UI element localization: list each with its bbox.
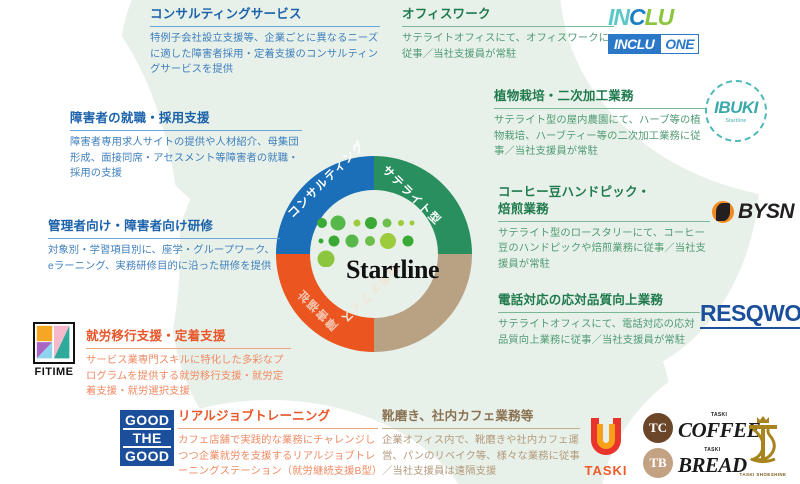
block-title: 障害者の就職・採用支援 xyxy=(70,110,302,131)
block-body: サテライト型の屋内農園にて、ハーブ等の植物栽培、ハーブティー等の二次加工業務に従… xyxy=(494,113,706,160)
gtg-line-1: GOOD xyxy=(123,412,171,430)
block-office-work: オフィスワーク サテライトオフィスにて、オフィスワークに従事／当社支援員が常駐 xyxy=(402,6,614,62)
block-real-job-training: リアルジョブトレーニング カフェ店舗で実践的な業務にチャレンジしつつ企業就労を支… xyxy=(178,408,378,480)
block-body: サテライトオフィスにて、電話対応の応対品質向上業務に従事／当社支援員が常駐 xyxy=(498,317,700,348)
block-body: 企業オフィス内で、靴磨きや社内カフェ運営、パンのリベイク等、様々な業務に従事／当… xyxy=(382,433,580,480)
block-consulting-service: コンサルティングサービス 特例子会社設立支援等、企業ごとに異なるニーズに適した障… xyxy=(150,6,380,78)
fitime-mark-icon xyxy=(33,322,75,364)
inclu-wordmark-bottom: INCLU xyxy=(608,34,660,54)
infographic-canvas: コンサルティングサービス 特例子会社設立支援等、企業ごとに異なるニーズに適した障… xyxy=(0,0,800,484)
block-title: リアルジョブトレーニング xyxy=(178,408,378,429)
inclu-logo: INCLU INCLU ONE xyxy=(608,4,699,54)
block-plant-cultivation: 植物栽培・二次加工業務 サテライト型の屋内農園にて、ハーブ等の植物栽培、ハーブテ… xyxy=(494,88,706,160)
ibuki-mark-icon: IBUKI Startline xyxy=(705,80,767,142)
block-body: 対象別・学習項目別に、座学・グループワーク、eラーニング、実務研修目的に沿った研… xyxy=(48,243,280,274)
tb-badge-icon: TB xyxy=(643,448,673,478)
block-title: 就労移行支援・定着支援 xyxy=(86,328,291,349)
tsb-shoeshine-logo: TASKI SHOESHINE xyxy=(735,414,791,477)
block-body: 障害者専用求人サイトの提供や人材紹介、母集団形成、面接同席・アセスメント等障害者… xyxy=(70,135,302,182)
block-employment-support: 障害者の就職・採用支援 障害者専用求人サイトの提供や人材紹介、母集団形成、面接同… xyxy=(70,110,302,182)
tc-badge-icon: TC xyxy=(643,413,673,443)
bysn-wordmark: BYSN xyxy=(738,200,794,224)
tsb-wordmark: TASKI SHOESHINE xyxy=(735,472,791,477)
tb-bread-logo: TB TASKI BREAD xyxy=(643,447,747,478)
taski-logo: TASKI xyxy=(584,414,628,478)
inclu-wordmark-top: INCLU xyxy=(608,4,699,31)
ibuki-wordmark: IBUKI xyxy=(714,98,758,118)
ibuki-subtext: Startline xyxy=(725,118,746,124)
inclu-one-label: ONE xyxy=(660,34,699,54)
ibuki-logo: IBUKI Startline xyxy=(705,80,767,142)
block-title: オフィスワーク xyxy=(402,6,614,27)
startline-wordmark: Startline xyxy=(346,255,439,285)
gtg-line-2: THE xyxy=(123,430,171,448)
fitime-logo: FITIME xyxy=(33,322,75,378)
block-body: 特例子会社設立支援等、企業ごとに異なるニーズに適した障害者採用・定着支援のコンサ… xyxy=(150,31,380,78)
block-body: サテライトオフィスにて、オフィスワークに従事／当社支援員が常駐 xyxy=(402,31,614,62)
block-title: 靴磨き、社内カフェ業務等 xyxy=(382,408,580,429)
block-training: 管理者向け・障害者向け研修 対象別・学習項目別に、座学・グループワーク、eラーニ… xyxy=(48,218,280,274)
block-body: カフェ店舗で実践的な業務にチャレンジしつつ企業就労を支援するリアルジョブトレーニ… xyxy=(178,433,378,480)
block-transition-support: 就労移行支援・定着支援 サービス業専門スキルに特化した多彩なプログラムを提供する… xyxy=(86,328,291,400)
resqwo-logo: RESQWO xyxy=(700,300,800,327)
startline-logo: Startline xyxy=(310,215,442,293)
fitime-wordmark: FITIME xyxy=(34,366,73,378)
resqwo-wordmark: RESQWO xyxy=(700,300,800,329)
block-title: 植物栽培・二次加工業務 xyxy=(494,88,706,109)
good-the-good-logo: GOOD THE GOOD xyxy=(120,410,174,466)
bysn-logo: BYSN xyxy=(712,200,794,224)
taski-wordmark: TASKI xyxy=(584,463,628,478)
block-title: 電話対応の応対品質向上業務 xyxy=(498,292,700,313)
block-title-line2: 焙煎業務 xyxy=(498,201,710,222)
block-body: サテライト型のロースタリーにて、コーヒー豆のハンドピックや焙煎業務に従事／当社支… xyxy=(498,226,710,273)
block-body: サービス業専門スキルに特化した多彩なプログラムを提供する就労移行支援・就労定着支… xyxy=(86,353,291,400)
taski-mark-icon xyxy=(584,414,628,458)
block-phone-quality: 電話対応の応対品質向上業務 サテライトオフィスにて、電話対応の応対品質向上業務に… xyxy=(498,292,700,348)
block-title-line1: コーヒー豆ハンドピック・ xyxy=(498,184,710,201)
bysn-mark-icon xyxy=(712,201,734,223)
inclu-one-row: INCLU ONE xyxy=(608,34,699,54)
tsb-emblem-icon xyxy=(735,414,791,472)
gtg-line-3: GOOD xyxy=(123,448,171,464)
block-title: コンサルティングサービス xyxy=(150,6,380,27)
block-title: 管理者向け・障害者向け研修 xyxy=(48,218,280,239)
block-coffee-handpick: コーヒー豆ハンドピック・ 焙煎業務 サテライト型のロースタリーにて、コーヒー豆の… xyxy=(498,184,710,273)
block-shoeshine-cafe: 靴磨き、社内カフェ業務等 企業オフィス内で、靴磨きや社内カフェ運営、パンのリベイ… xyxy=(382,408,580,480)
